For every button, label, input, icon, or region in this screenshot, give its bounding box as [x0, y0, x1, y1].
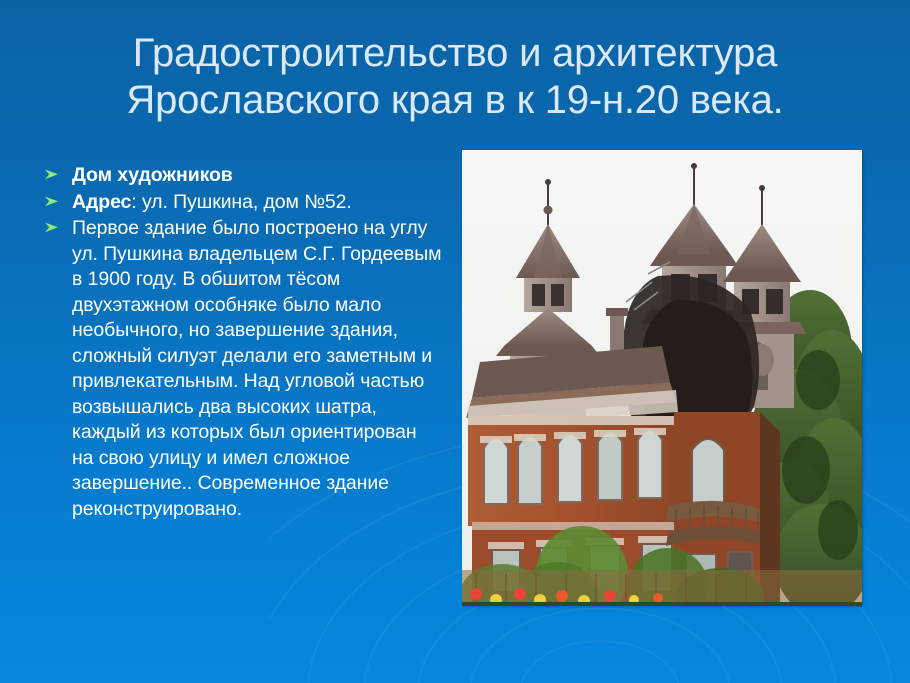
arrow-bullet-icon	[38, 163, 72, 181]
title-line-1: Градостроительство и архитектура	[24, 30, 886, 77]
list-item-text: Дом художников	[72, 163, 442, 189]
slide-body-content: Дом художников Адрес: ул. Пушкина, дом №…	[38, 163, 442, 523]
address-value: : ул. Пушкина, дом №52.	[131, 191, 351, 213]
dom-hudozhnikov-photograph	[462, 150, 862, 606]
slide-title: Градостроительство и архитектура Ярослав…	[0, 30, 910, 124]
list-item: Адрес: ул. Пушкина, дом №52.	[38, 190, 442, 216]
list-item-text: Первое здание было построено на углу ул.…	[72, 216, 442, 522]
list-item: Первое здание было построено на углу ул.…	[38, 216, 442, 522]
arrow-bullet-icon	[38, 216, 72, 234]
presentation-slide: Градостроительство и архитектура Ярослав…	[0, 0, 910, 683]
address-label: Адрес	[72, 191, 131, 213]
list-item: Дом художников	[38, 163, 442, 189]
list-item-text: Адрес: ул. Пушкина, дом №52.	[72, 190, 442, 216]
arrow-bullet-icon	[38, 190, 72, 208]
title-line-2: Ярославского края в к 19-н.20 века.	[24, 77, 886, 124]
